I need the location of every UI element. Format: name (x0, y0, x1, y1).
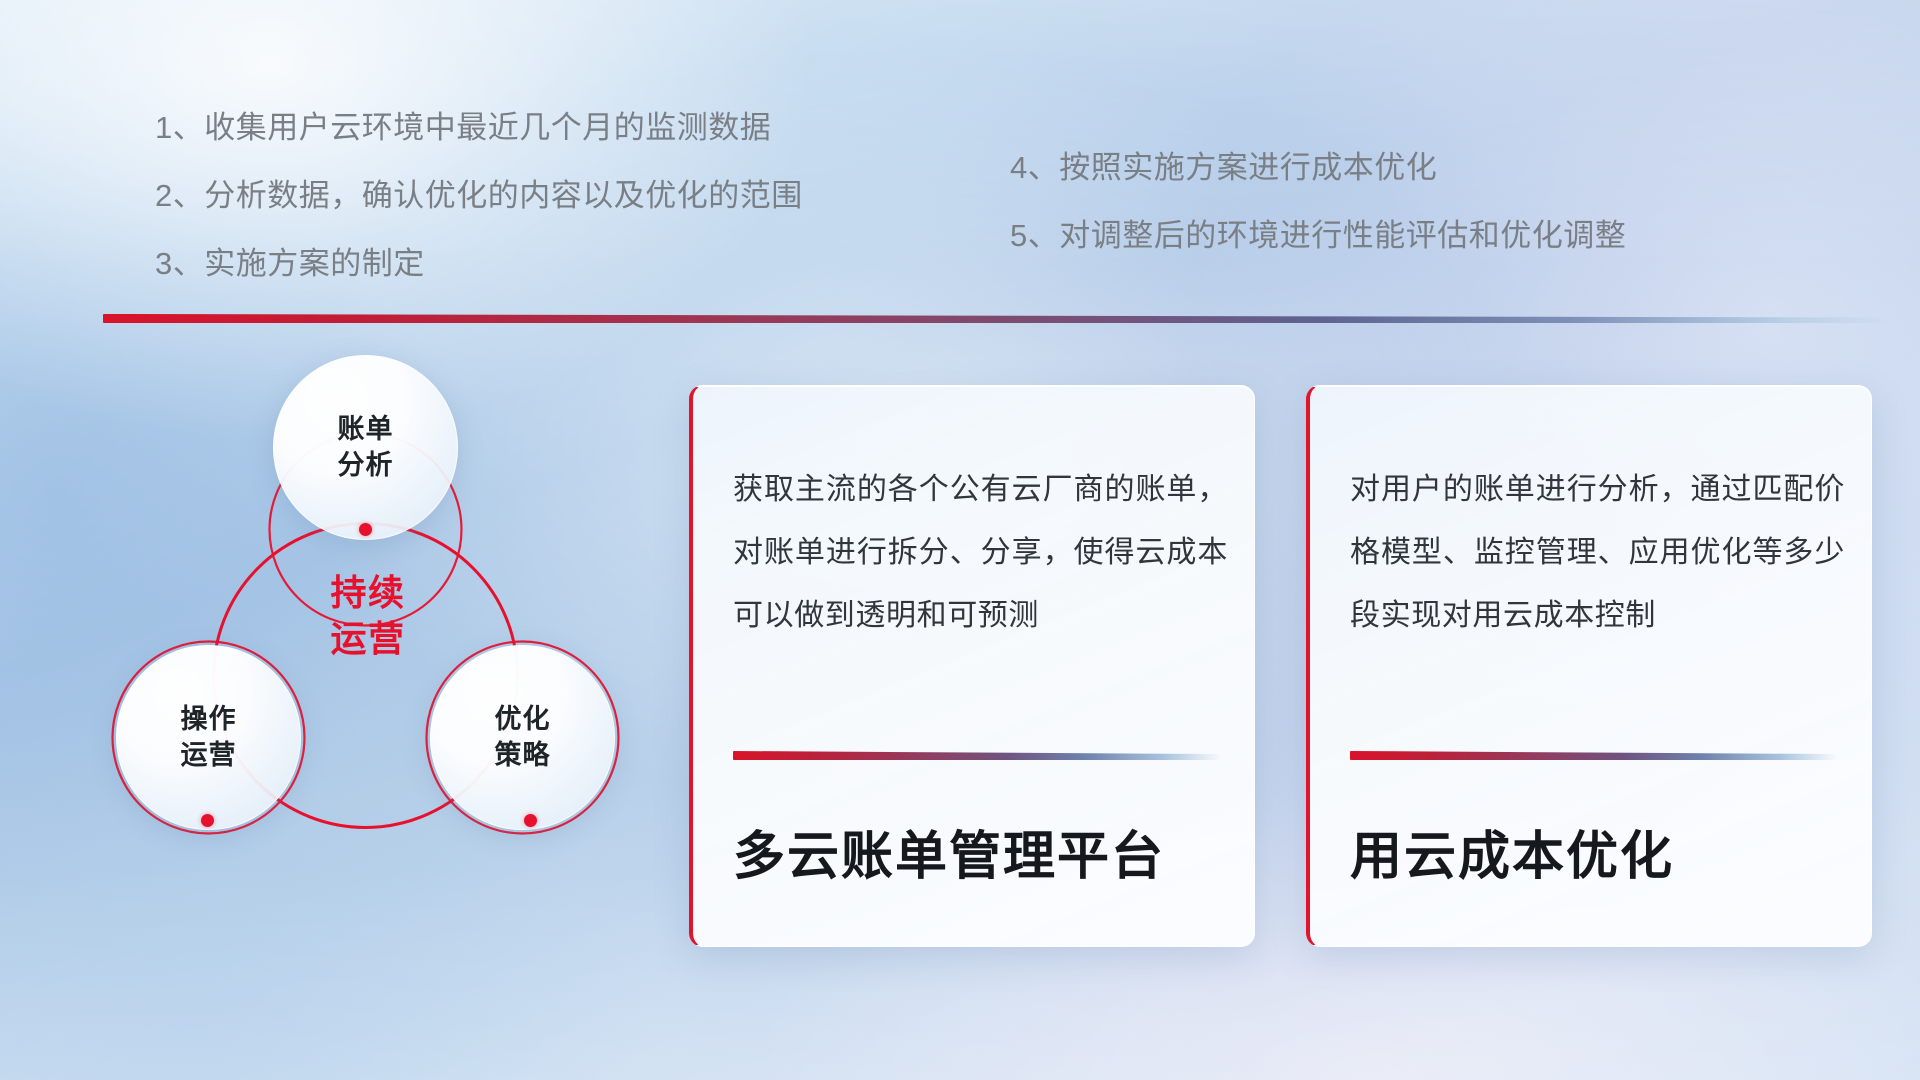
venn-node-label-line1: 账单 (338, 414, 394, 444)
venn-node-label: 优化 策略 (495, 702, 551, 772)
venn-node-operations[interactable]: 操作 运营 (116, 645, 301, 830)
venn-diagram: 账单 分析 操作 运营 优化 策略 持续 运营 (100, 355, 660, 955)
step-item: 2、分析数据，确认优化的内容以及优化的范围 (155, 180, 803, 211)
step-item: 3、实施方案的制定 (155, 248, 803, 279)
steps-right-column: 4、按照实施方案进行成本优化 5、对调整后的环境进行性能评估和优化调整 (1010, 152, 1626, 288)
venn-node-billing-analysis[interactable]: 账单 分析 (273, 355, 458, 540)
venn-node-label: 操作 运营 (181, 702, 237, 772)
section-divider (103, 314, 1891, 323)
venn-node-label-line2: 运营 (181, 740, 237, 770)
card-body-text: 对用户的账单进行分析，通过匹配价格模型、监控管理、应用优化等多少段实现对用云成本… (1350, 458, 1845, 647)
card-title: 多云账单管理平台 (733, 814, 1165, 889)
steps-left-column: 1、收集用户云环境中最近几个月的监测数据 2、分析数据，确认优化的内容以及优化的… (155, 112, 803, 316)
venn-center-label: 持续 运营 (293, 570, 443, 662)
venn-node-label-line1: 操作 (181, 704, 237, 734)
step-item: 5、对调整后的环境进行性能评估和优化调整 (1010, 220, 1626, 251)
venn-center-label-line2: 运营 (330, 618, 405, 659)
venn-center-label-line1: 持续 (330, 572, 405, 613)
step-item: 4、按照实施方案进行成本优化 (1010, 152, 1626, 183)
step-item: 1、收集用户云环境中最近几个月的监测数据 (155, 112, 803, 143)
venn-node-label-line2: 策略 (495, 740, 551, 770)
card-divider (733, 751, 1221, 760)
feature-card-cloud-cost-optimization[interactable]: 对用户的账单进行分析，通过匹配价格模型、监控管理、应用优化等多少段实现对用云成本… (1306, 385, 1872, 947)
card-body-text: 获取主流的各个公有云厂商的账单，对账单进行拆分、分享，使得云成本可以做到透明和可… (733, 458, 1228, 647)
card-divider (1350, 751, 1838, 760)
venn-node-label-line1: 优化 (495, 704, 551, 734)
feature-card-multicloud-billing[interactable]: 获取主流的各个公有云厂商的账单，对账单进行拆分、分享，使得云成本可以做到透明和可… (689, 385, 1255, 947)
venn-node-label-line2: 分析 (338, 450, 394, 480)
venn-node-optimization-strategy[interactable]: 优化 策略 (430, 645, 615, 830)
venn-connector-dot-top (359, 523, 372, 536)
venn-connector-dot-left (201, 814, 214, 827)
slide-content: 1、收集用户云环境中最近几个月的监测数据 2、分析数据，确认优化的内容以及优化的… (0, 0, 1920, 1080)
venn-connector-dot-right (524, 814, 537, 827)
card-title: 用云成本优化 (1350, 814, 1674, 889)
venn-node-label: 账单 分析 (338, 412, 394, 482)
